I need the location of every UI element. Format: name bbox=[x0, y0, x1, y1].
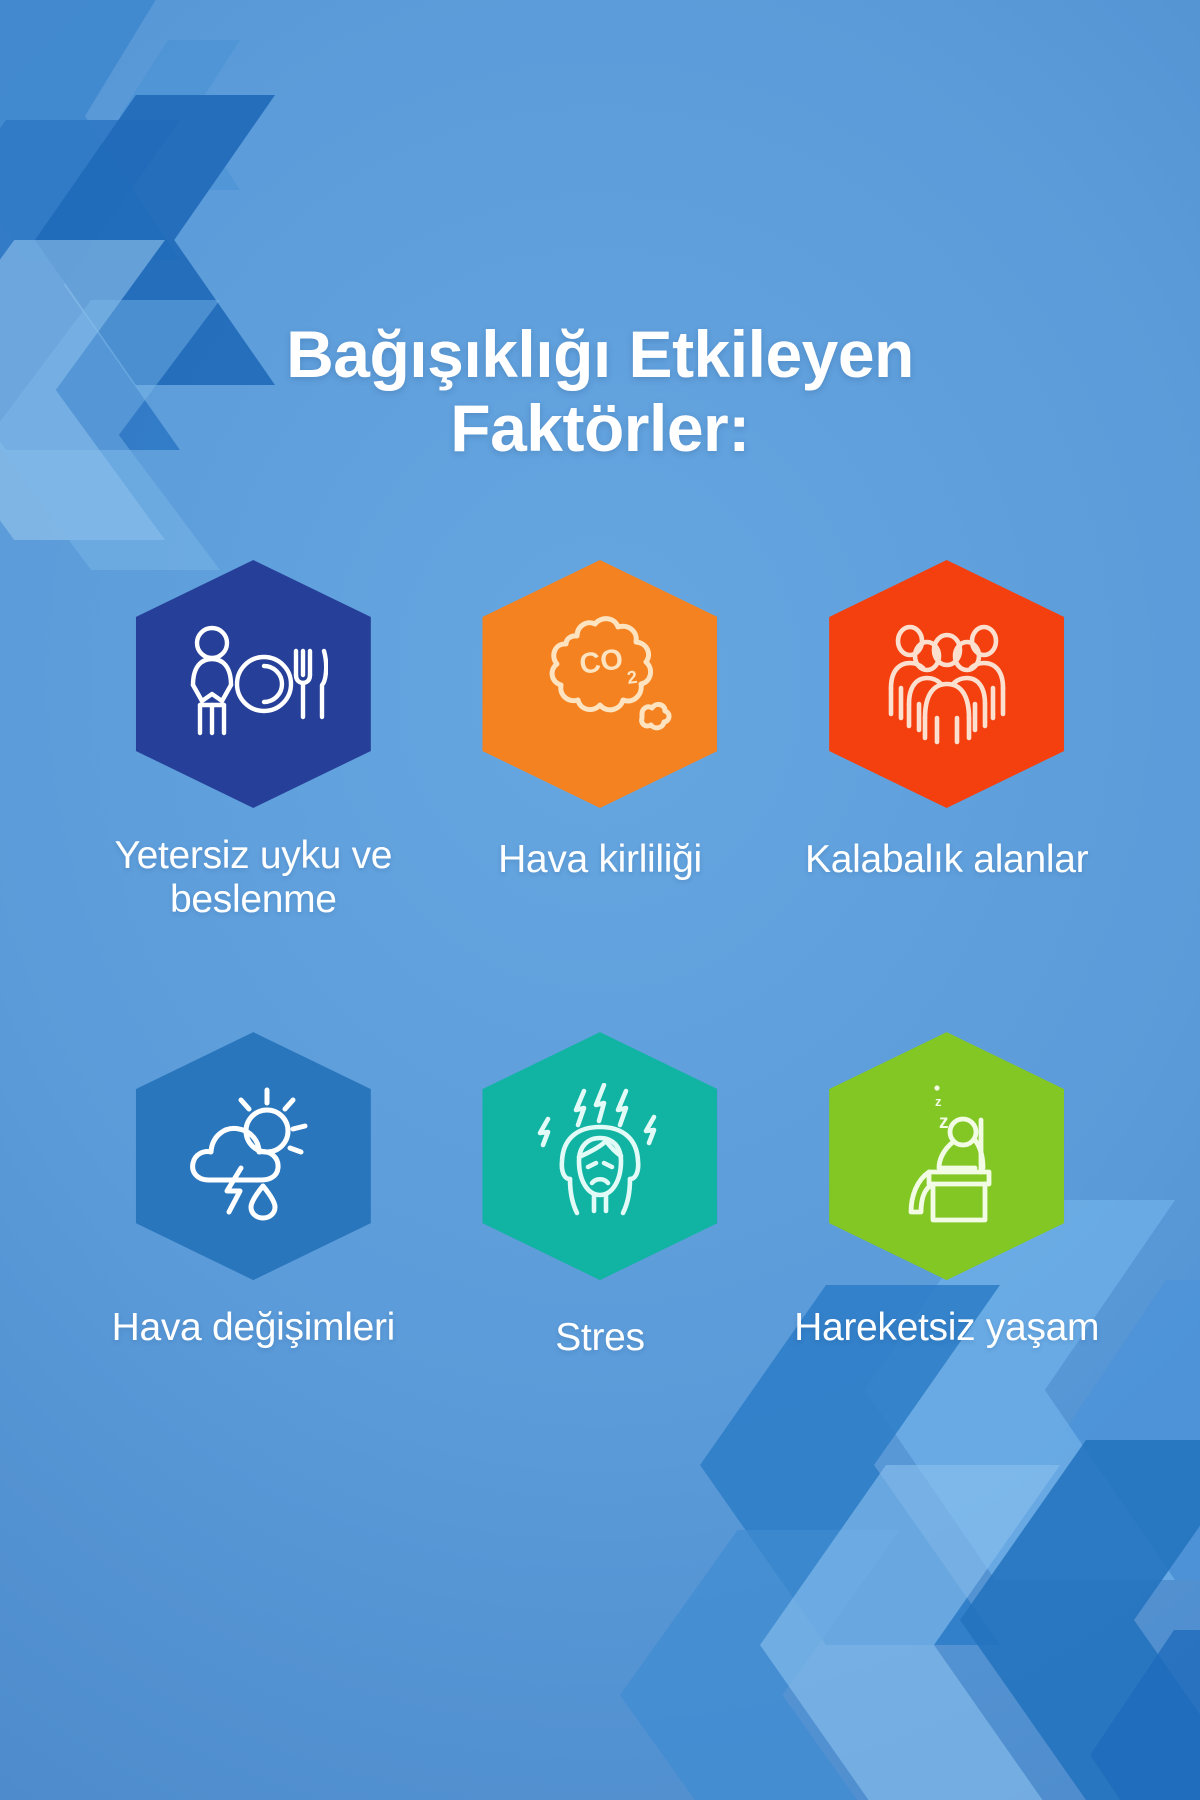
sleep-z-small: z bbox=[935, 1094, 942, 1109]
hexagon-badge-stress bbox=[482, 1032, 717, 1280]
factor-label: Hava değişimleri bbox=[112, 1306, 395, 1350]
stressed-face-lightning-icon bbox=[530, 1083, 670, 1229]
hexagon-badge-crowded-places bbox=[829, 560, 1064, 808]
factor-label: Hareketsiz yaşam bbox=[794, 1306, 1099, 1350]
chevron-shape-bottom-right-4 bbox=[960, 1440, 1200, 1800]
hexagon-badge-air-pollution: CO 2 bbox=[482, 560, 717, 808]
factor-item-kalabalik-alanlar[interactable]: Kalabalık alanlar bbox=[773, 560, 1120, 922]
page-title: Bağışıklığı Etkileyen Faktörler: bbox=[0, 318, 1200, 466]
infographic-poster: Bağışıklığı Etkileyen Faktörler: bbox=[0, 0, 1200, 1800]
chevron-shape-bottom-right-7 bbox=[1090, 1630, 1200, 1800]
factor-label: Stres bbox=[555, 1316, 645, 1360]
factor-item-yetersiz-uyku-ve-beslenme[interactable]: Yetersiz uyku ve beslenme bbox=[80, 560, 427, 922]
co2-subscript: 2 bbox=[626, 667, 639, 688]
factor-item-hava-kirliligi[interactable]: CO 2 Hava kirliliği bbox=[427, 560, 774, 922]
page-title-line-1: Bağışıklığı Etkileyen bbox=[0, 318, 1200, 392]
factor-item-stres[interactable]: Stres bbox=[427, 1032, 774, 1360]
hexagon-badge-weather-changes bbox=[136, 1032, 371, 1280]
co2-cloud-icon: CO 2 bbox=[525, 614, 675, 754]
factor-item-hareketsiz-yasam[interactable]: z z Harekets bbox=[773, 1032, 1120, 1360]
person-eating-plate-cutlery-icon bbox=[178, 621, 328, 747]
chevron-shape-top-left-1 bbox=[0, 0, 180, 260]
chevron-shape-bottom-right-3 bbox=[760, 1465, 1060, 1800]
crowd-people-group-icon bbox=[877, 622, 1017, 746]
factor-item-hava-degisimleri[interactable]: Hava değişimleri bbox=[80, 1032, 427, 1360]
sleep-z-large: z bbox=[939, 1112, 949, 1133]
person-sleeping-armchair-icon: z z bbox=[877, 1080, 1017, 1232]
hexagon-badge-sleep-nutrition bbox=[136, 560, 371, 808]
chevron-shape-top-left-6 bbox=[120, 40, 240, 190]
factor-label: Hava kirliliği bbox=[498, 838, 702, 882]
factors-grid: Yetersiz uyku ve beslenme CO 2 Hava kirl… bbox=[80, 560, 1120, 1360]
page-title-line-2: Faktörler: bbox=[0, 392, 1200, 466]
factor-label: Yetersiz uyku ve beslenme bbox=[88, 834, 418, 922]
factor-label: Kalabalık alanlar bbox=[805, 838, 1088, 882]
co2-label: CO bbox=[578, 643, 626, 681]
chevron-shape-bottom-right-6 bbox=[620, 1530, 900, 1800]
sun-cloud-rain-lightning-icon bbox=[183, 1086, 323, 1226]
hexagon-badge-sedentary-life: z z bbox=[829, 1032, 1064, 1280]
